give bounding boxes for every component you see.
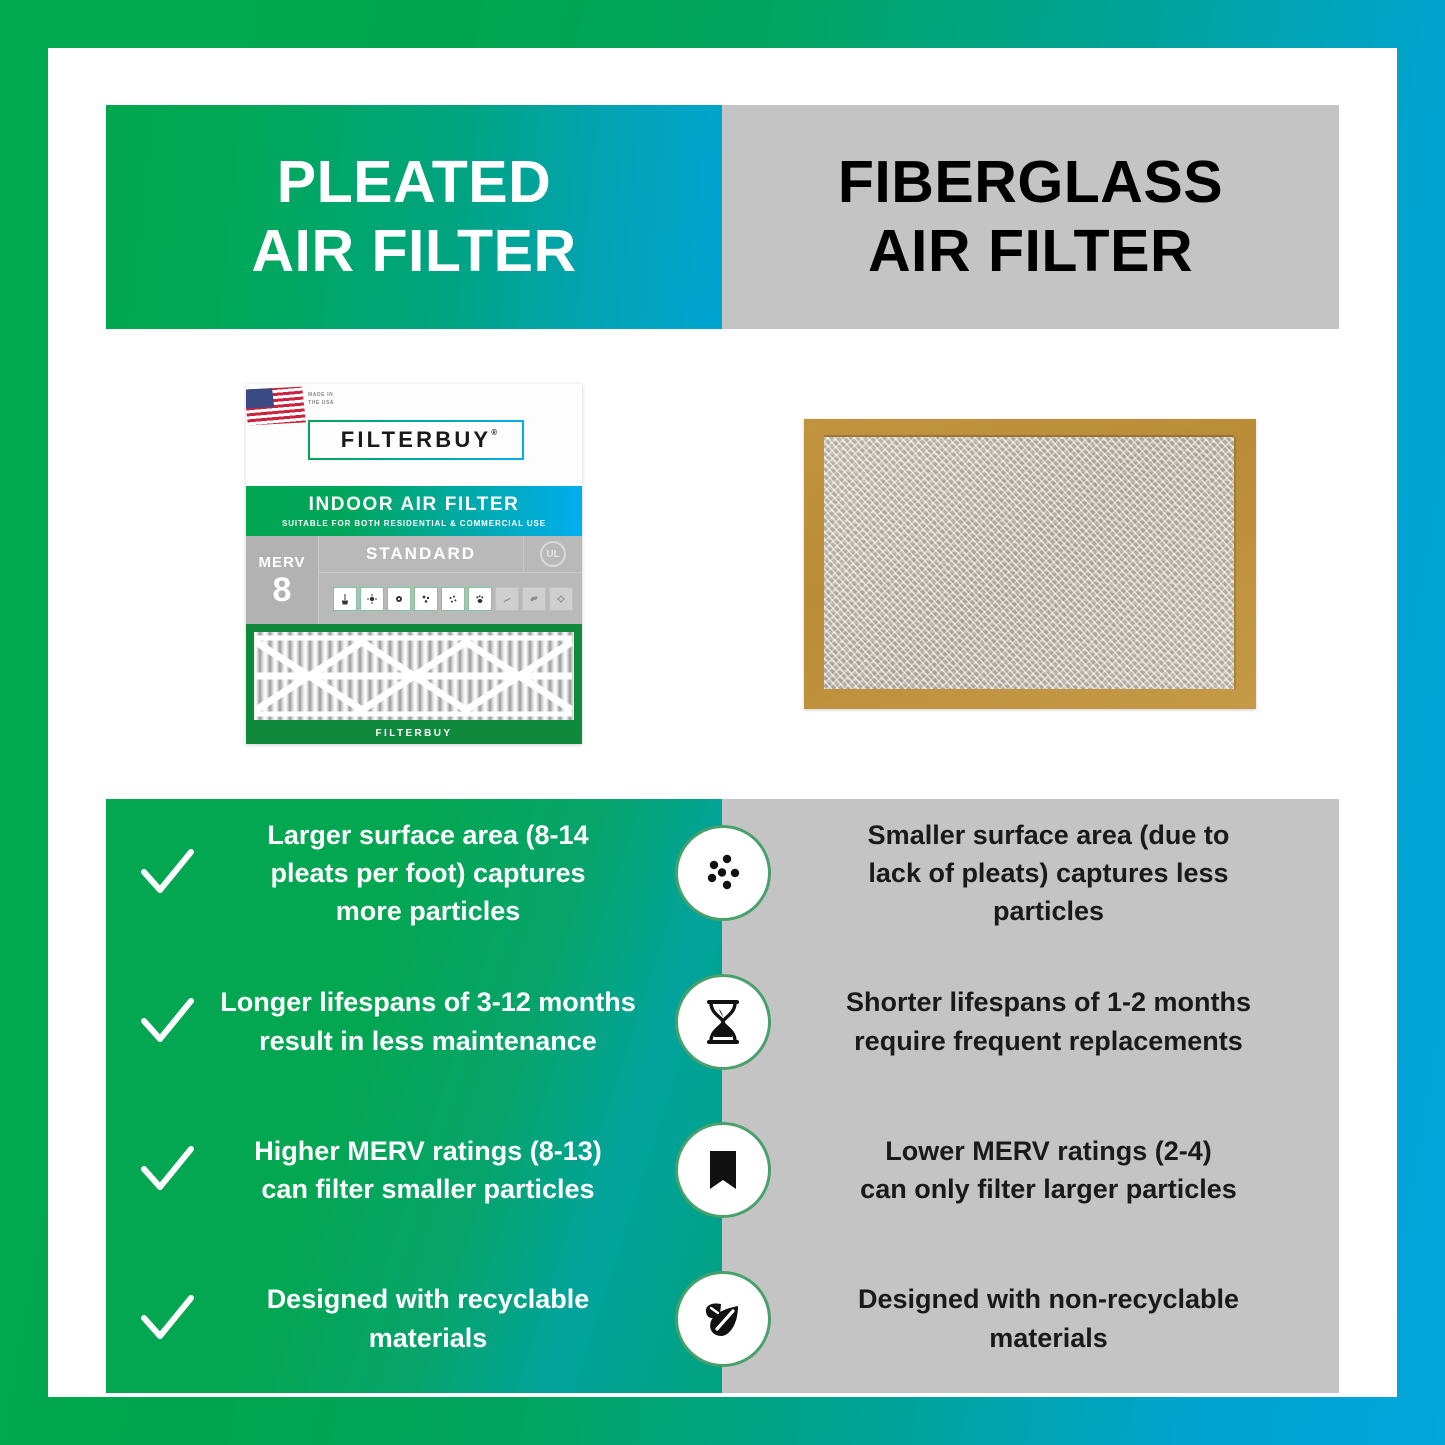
merv-value: 8: [273, 573, 292, 607]
ul-certification: UL: [523, 536, 582, 572]
box-top-section: MADE IN THE USA FILTERBUY®: [246, 384, 582, 486]
infographic-poster: PLEATED AIR FILTER FIBERGLASS AIR FILTER…: [0, 0, 1445, 1445]
row-1-fiberglass-cell: Smaller surface area (due to lack of ple…: [722, 816, 1339, 931]
dust-icon: [333, 587, 357, 611]
row-1-pleated-text: Larger surface area (8-14 pleats per foo…: [212, 816, 722, 931]
trademark-symbol: ®: [491, 428, 500, 437]
pet-dander-icon: [468, 587, 492, 611]
filterbuy-box-image: MADE IN THE USA FILTERBUY® INDOOR AIR FI…: [246, 384, 582, 744]
checkmark-icon: [136, 991, 198, 1053]
comparison-headers: PLEATED AIR FILTER FIBERGLASS AIR FILTER: [106, 105, 1339, 329]
product-image-band: MADE IN THE USA FILTERBUY® INDOOR AIR FI…: [106, 329, 1339, 799]
frame-right-seam: [1234, 437, 1236, 689]
bookmark-icon: [675, 1122, 771, 1218]
table-row: Higher MERV ratings (8-13) can filter sm…: [106, 1096, 1339, 1245]
box-spec-strip: MERV 8 STANDARD UL: [246, 536, 582, 624]
made-in-usa-label: MADE IN THE USA: [308, 392, 334, 407]
spores-icon: [441, 587, 465, 611]
hourglass-icon: [675, 974, 771, 1070]
banner-sub-text: SUITABLE FOR BOTH RESIDENTIAL & COMMERCI…: [282, 519, 546, 528]
particles-icon: [675, 825, 771, 921]
row-2-pleated-cell: Longer lifespans of 3-12 months result i…: [106, 983, 722, 1060]
brand-name: FILTERBUY: [341, 427, 492, 452]
row-2-pleated-text: Longer lifespans of 3-12 months result i…: [212, 983, 722, 1060]
header-fiberglass-title: FIBERGLASS AIR FILTER: [838, 148, 1223, 286]
fiberglass-product-cell: [722, 329, 1338, 799]
brand-logo-text: FILTERBUY®: [341, 427, 492, 453]
leaf-icon: [675, 1271, 771, 1367]
merv-label: MERV: [258, 554, 305, 571]
smoke-icon: [495, 587, 519, 611]
table-row: Designed with recyclable materials Desig…: [106, 1245, 1339, 1394]
table-row: Larger surface area (8-14 pleats per foo…: [106, 799, 1339, 948]
ul-mark-icon: UL: [540, 541, 566, 567]
row-3-fiberglass-text: Lower MERV ratings (2-4) can only filter…: [722, 1132, 1339, 1209]
pleated-product-cell: MADE IN THE USA FILTERBUY® INDOOR AIR FI…: [106, 329, 722, 799]
row-1-pleated-cell: Larger surface area (8-14 pleats per foo…: [106, 816, 722, 931]
header-pleated-title: PLEATED AIR FILTER: [251, 148, 576, 286]
checkmark-icon: [136, 1288, 198, 1350]
comparison-rows: Larger surface area (8-14 pleats per foo…: [106, 799, 1339, 1393]
row-2-fiberglass-cell: Shorter lifespans of 1-2 months require …: [722, 983, 1339, 1060]
grade-row: STANDARD UL: [319, 536, 582, 573]
row-4-fiberglass-cell: Designed with non-recyclable materials: [722, 1280, 1339, 1357]
table-row: Longer lifespans of 3-12 months result i…: [106, 948, 1339, 1097]
usa-flag-icon: [246, 387, 306, 426]
support-grid-overlay: [254, 632, 574, 720]
grade-label: STANDARD: [319, 544, 523, 564]
poster-inner-card: PLEATED AIR FILTER FIBERGLASS AIR FILTER…: [48, 48, 1397, 1397]
box-banner: INDOOR AIR FILTER SUITABLE FOR BOTH RESI…: [246, 486, 582, 536]
box-footer-brand: FILTERBUY: [246, 722, 582, 744]
row-4-pleated-text: Designed with recyclable materials: [212, 1280, 722, 1357]
brand-logo-frame: FILTERBUY®: [308, 420, 524, 460]
frame-top-seam: [824, 435, 1234, 437]
checkmark-icon: [136, 1139, 198, 1201]
row-3-pleated-cell: Higher MERV ratings (8-13) can filter sm…: [106, 1132, 722, 1209]
fiberglass-media-area: [824, 437, 1234, 689]
bacteria-icon: [522, 587, 546, 611]
fiberglass-filter-image: [804, 419, 1256, 709]
lint-icon: [360, 587, 384, 611]
row-2-fiberglass-text: Shorter lifespans of 1-2 months require …: [722, 983, 1339, 1060]
row-4-pleated-cell: Designed with recyclable materials: [106, 1280, 722, 1357]
checkmark-icon: [136, 842, 198, 904]
pleated-media-photo: FILTERBUY: [246, 624, 582, 744]
fiberglass-fiber-texture: [824, 437, 1234, 689]
mold-icon: [387, 587, 411, 611]
row-3-fiberglass-cell: Lower MERV ratings (2-4) can only filter…: [722, 1132, 1339, 1209]
row-3-pleated-text: Higher MERV ratings (8-13) can filter sm…: [212, 1132, 722, 1209]
comparison-table: Larger surface area (8-14 pleats per foo…: [106, 799, 1339, 1393]
pleat-texture: [254, 632, 574, 720]
row-4-fiberglass-text: Designed with non-recyclable materials: [722, 1280, 1339, 1357]
header-pleated: PLEATED AIR FILTER: [106, 105, 722, 329]
merv-badge: MERV 8: [246, 536, 319, 624]
box-spec-right: STANDARD UL: [319, 536, 582, 624]
header-fiberglass: FIBERGLASS AIR FILTER: [722, 105, 1339, 329]
banner-main-text: INDOOR AIR FILTER: [309, 494, 520, 516]
pollen-icon: [414, 587, 438, 611]
virus-icon: [549, 587, 573, 611]
row-1-fiberglass-text: Smaller surface area (due to lack of ple…: [722, 816, 1339, 931]
filtration-icon-row: [319, 573, 582, 624]
